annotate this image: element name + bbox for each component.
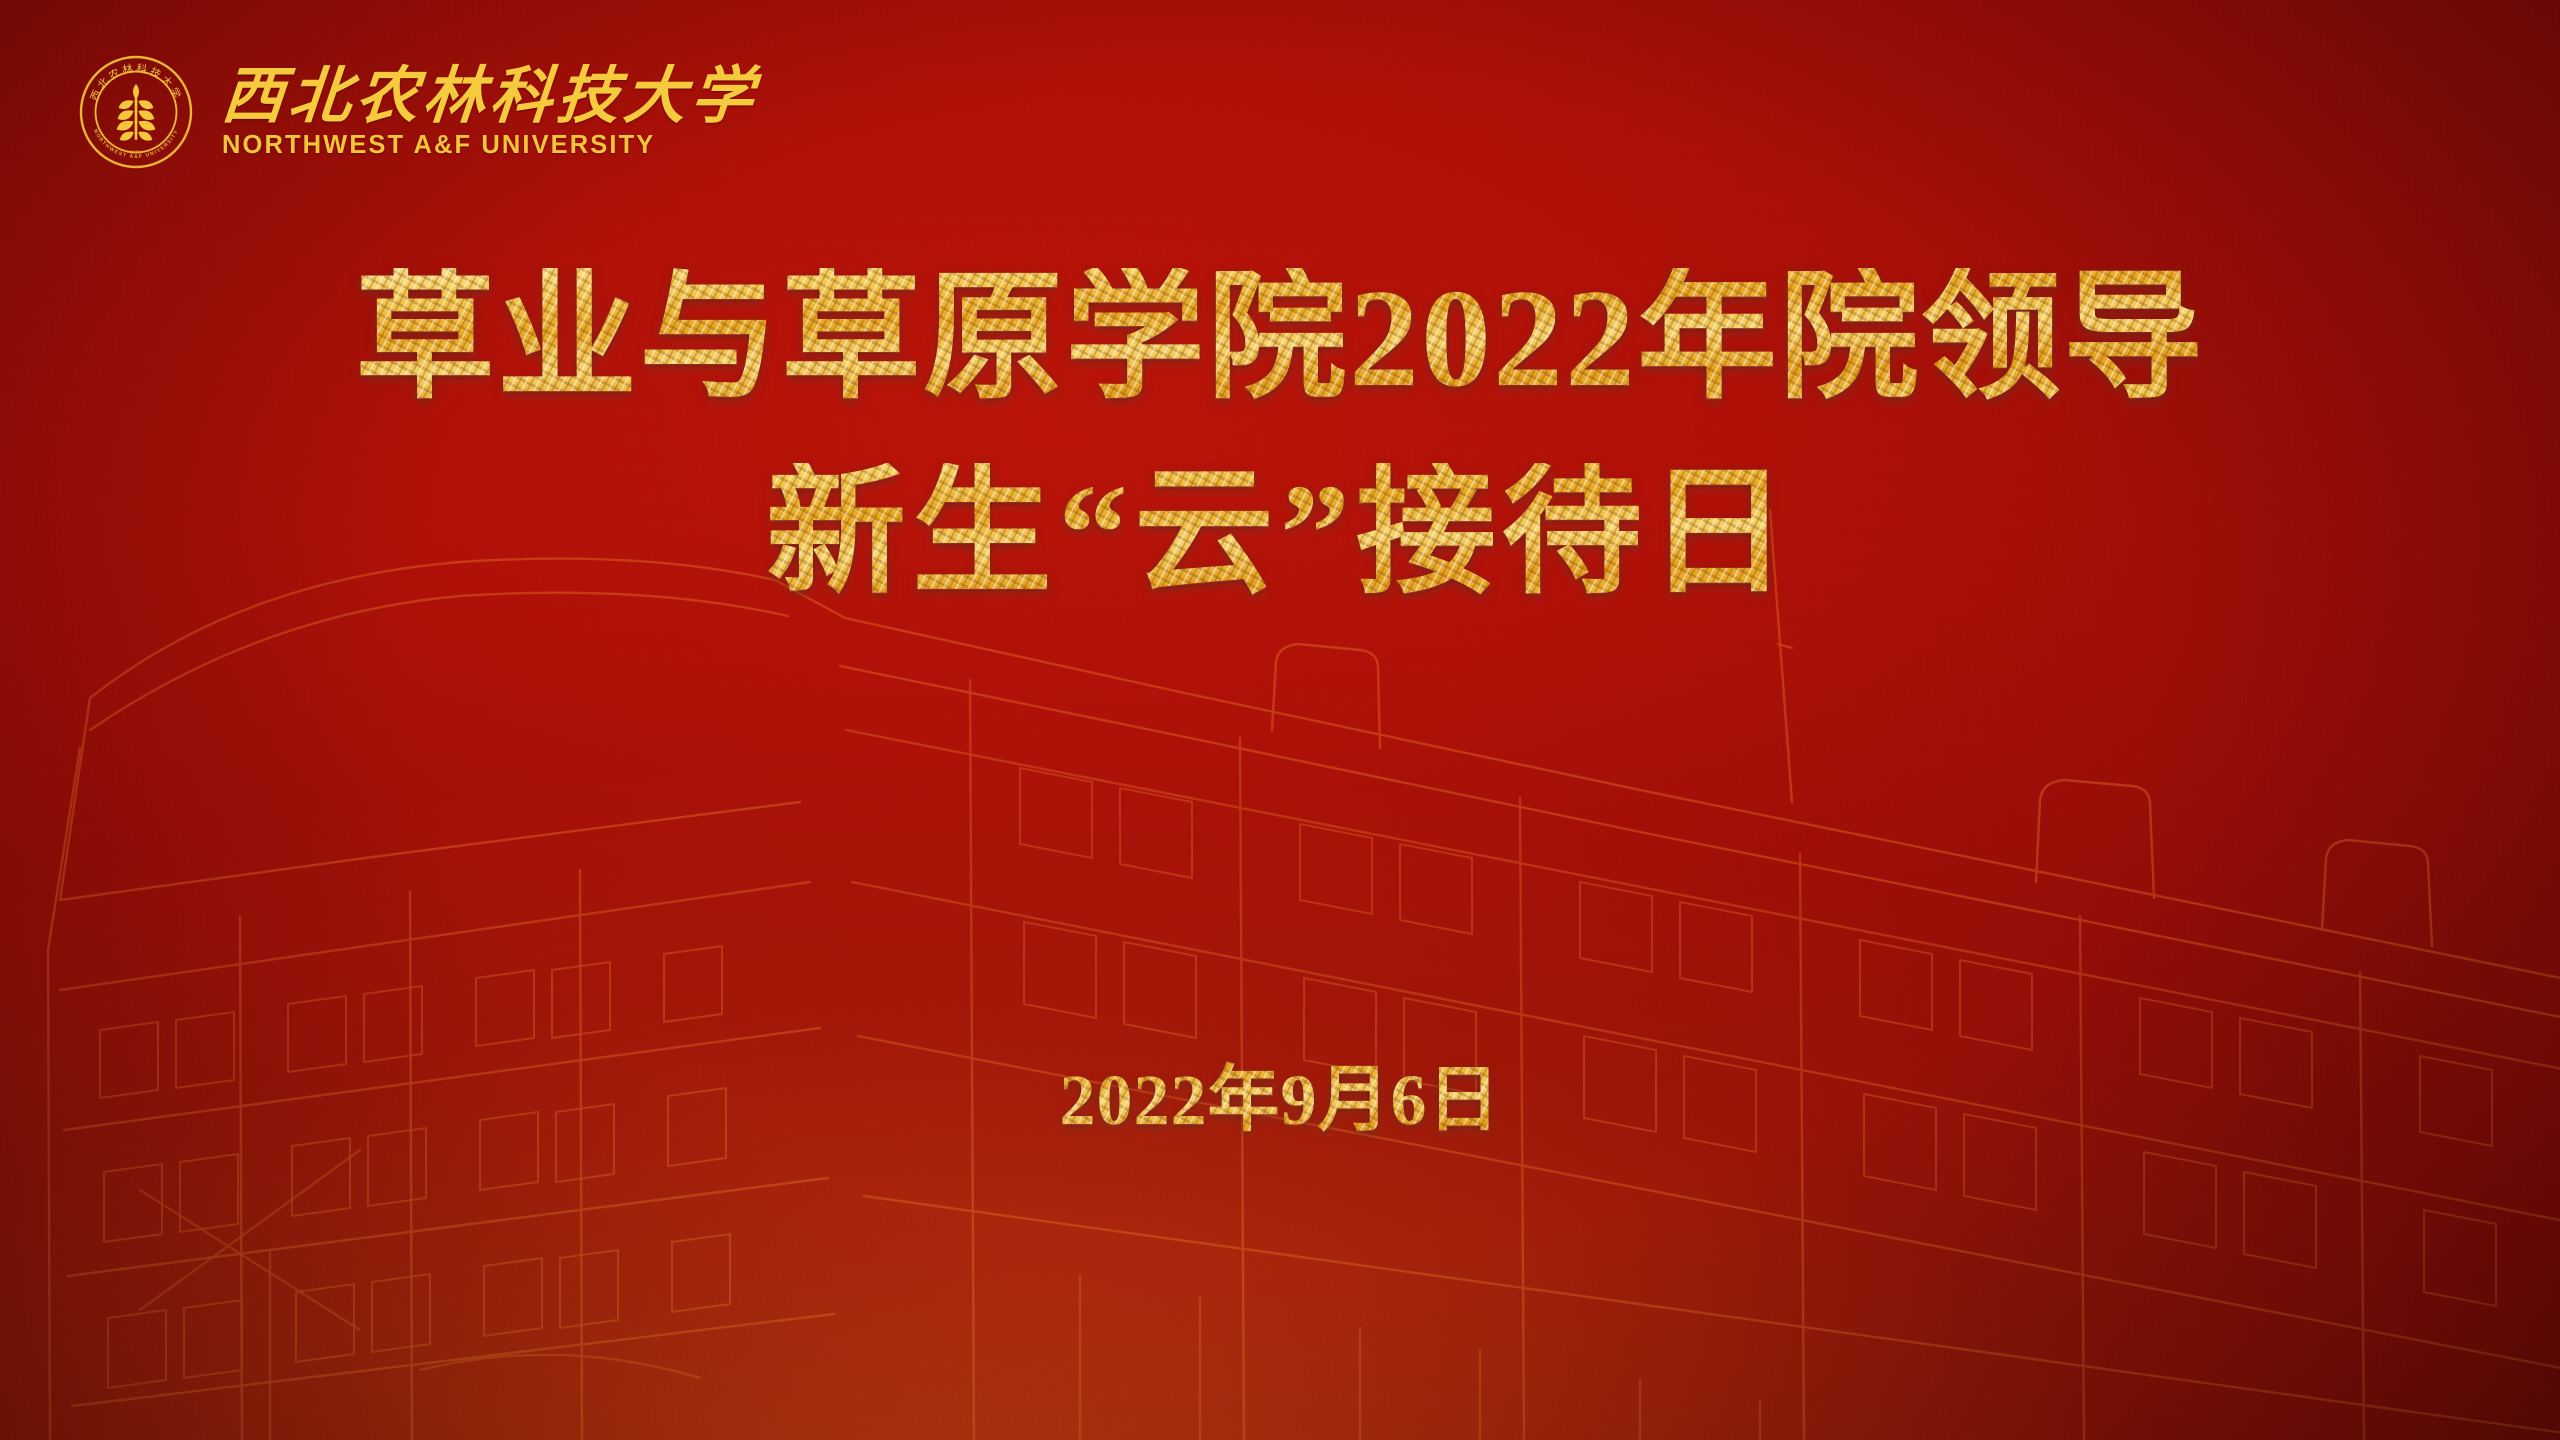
svg-text:1934: 1934: [130, 150, 142, 155]
banner-title-line-1: 草业与草原学院2022年院领导: [0, 268, 2560, 411]
banner-stage: 西北农林科技大学 NORTHWEST A&F UNIVERSITY 1934: [0, 0, 2560, 1440]
banner-title-block: 草业与草原学院2022年院领导 新生“云”接待日: [0, 268, 2560, 606]
university-name-en: NORTHWEST A&F UNIVERSITY: [222, 131, 758, 159]
university-name-cn: 西北农林科技大学: [219, 65, 761, 129]
university-seal-icon: 西北农林科技大学 NORTHWEST A&F UNIVERSITY 1934: [76, 52, 196, 172]
university-name-block: 西北农林科技大学 NORTHWEST A&F UNIVERSITY: [222, 65, 758, 160]
banner-date: 2022年9月6日: [0, 1040, 2560, 1145]
background-texture: [0, 0, 2560, 1440]
banner-title-line-2: 新生“云”接待日: [0, 463, 2560, 606]
university-logo-lockup: 西北农林科技大学 NORTHWEST A&F UNIVERSITY 1934: [76, 52, 758, 172]
